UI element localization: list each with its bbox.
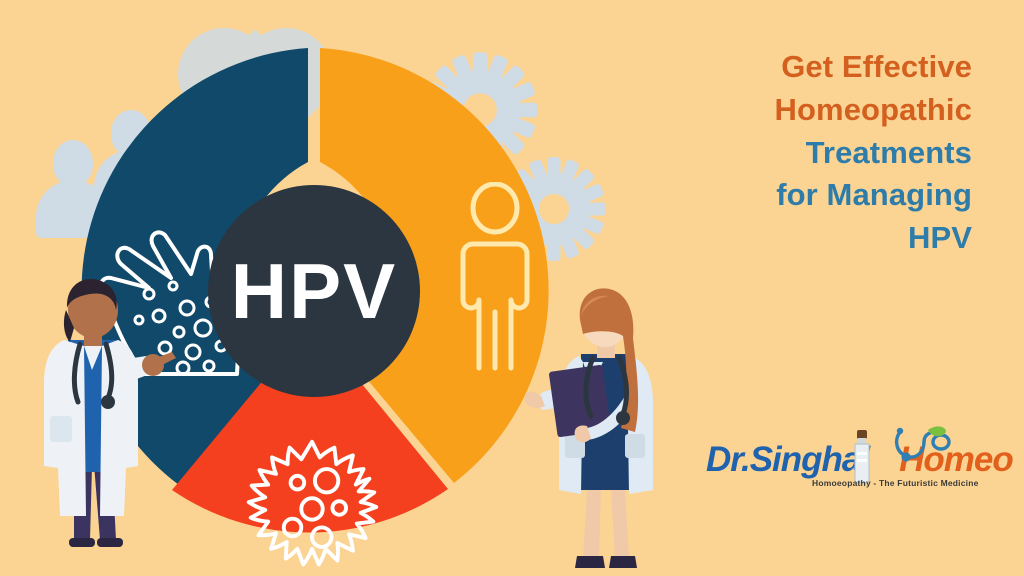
brand-logo[interactable]: Dr.Singhal Homeo Homoeopathy - The	[706, 428, 984, 502]
headline-line-4: for Managing	[652, 174, 972, 217]
virus-icon	[237, 434, 387, 576]
headline-line-5: HPV	[652, 217, 972, 260]
headline: Get Effective Homeopathic Treatments for…	[652, 46, 972, 260]
hpv-promotional-banner: HPV	[0, 0, 1024, 576]
logo-dr-singhal-text: Dr.Singhal	[706, 440, 869, 480]
hpv-label: HPV	[231, 252, 397, 330]
logo-tagline: Homoeopathy - The Futuristic Medicine	[812, 478, 979, 488]
headline-line-1: Get Effective	[652, 46, 972, 89]
female-doctor-illustration	[525, 276, 685, 576]
headline-line-2: Homeopathic	[652, 89, 972, 132]
headline-line-3: Treatments	[652, 132, 972, 175]
hpv-center-badge: HPV	[208, 185, 420, 397]
stethoscope-leaf-icon	[892, 426, 952, 469]
male-doctor-illustration	[22, 266, 200, 571]
